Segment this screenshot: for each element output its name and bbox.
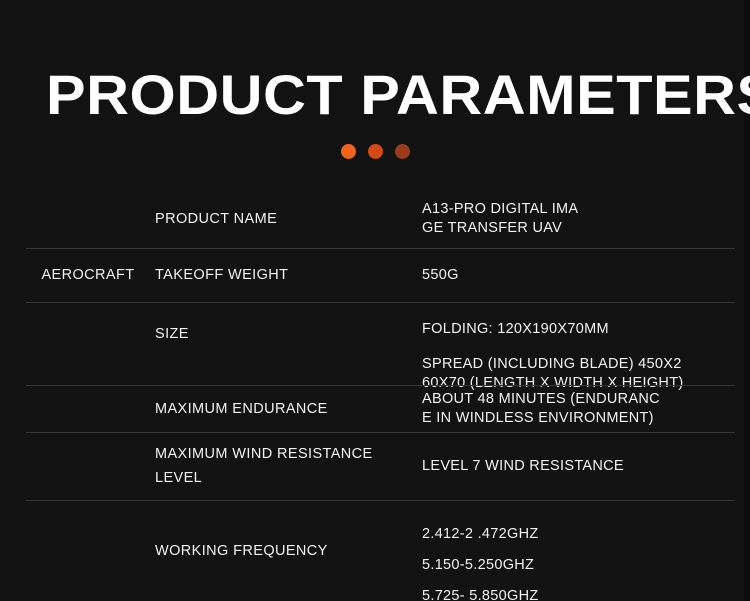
value-line: SPREAD (INCLUDING BLADE) 450X2: [422, 355, 732, 374]
table-row: WORKING FREQUENCY 2.412-2 .472GHZ 5.150-…: [0, 500, 750, 601]
decorative-dots: [0, 144, 750, 159]
dot-3-icon: [395, 144, 410, 159]
value-line: FOLDING: 120X190X70MM: [422, 320, 732, 339]
spec-table: PRODUCT NAME A13-PRO DIGITAL IMA GE TRAN…: [0, 190, 750, 601]
spec-label-working-frequency: WORKING FREQUENCY: [0, 539, 422, 563]
product-parameters-page: PRODUCT PARAMETERS PRODUCT NAME A13-PRO …: [0, 0, 750, 601]
spec-value-wind-resistance: LEVEL 7 WIND RESISTANCE: [422, 457, 750, 476]
value-line: 5.150-5.250GHZ: [422, 556, 732, 575]
spec-value-size: FOLDING: 120X190X70MM SPREAD (INCLUDING …: [422, 302, 750, 393]
spec-label-size: SIZE: [0, 302, 422, 346]
spec-group-label-aerocraft: AEROCRAFT: [26, 248, 150, 302]
table-row: MAXIMUM ENDURANCE ABOUT 48 MINUTES (ENDU…: [0, 385, 750, 432]
spec-label-maximum-endurance: MAXIMUM ENDURANCE: [0, 397, 422, 421]
table-row: AEROCRAFT TAKEOFF WEIGHT 550G: [0, 248, 750, 302]
value-line: GE TRANSFER UAV: [422, 219, 732, 238]
value-line: 2.412-2 .472GHZ: [422, 525, 732, 544]
spec-value-product-name: A13-PRO DIGITAL IMA GE TRANSFER UAV: [422, 200, 750, 238]
value-line: LEVEL 7 WIND RESISTANCE: [422, 457, 732, 476]
value-line: 5.725- 5.850GHZ: [422, 587, 732, 601]
label-line: MAXIMUM WIND: [155, 446, 273, 462]
dot-1-icon: [341, 144, 356, 159]
table-row: PRODUCT NAME A13-PRO DIGITAL IMA GE TRAN…: [0, 190, 750, 248]
spec-value-maximum-endurance: ABOUT 48 MINUTES (ENDURANC E IN WINDLESS…: [422, 390, 750, 428]
table-row: MAXIMUM WIND RESISTANCE LEVEL LEVEL 7 WI…: [0, 432, 750, 500]
table-row: SIZE FOLDING: 120X190X70MM SPREAD (INCLU…: [0, 302, 750, 385]
value-line: E IN WINDLESS ENVIRONMENT): [422, 409, 732, 428]
value-line: 550G: [422, 266, 732, 285]
spec-label-wind-resistance: MAXIMUM WIND RESISTANCE LEVEL: [0, 442, 422, 490]
spec-value-takeoff-weight: 550G: [422, 266, 750, 285]
spec-label-product-name: PRODUCT NAME: [0, 207, 422, 231]
spec-value-working-frequency: 2.412-2 .472GHZ 5.150-5.250GHZ 5.725- 5.…: [422, 500, 750, 601]
value-line: ABOUT 48 MINUTES (ENDURANC: [422, 390, 732, 409]
dot-2-icon: [368, 144, 383, 159]
page-title: PRODUCT PARAMETERS: [46, 66, 750, 124]
value-line: A13-PRO DIGITAL IMA: [422, 200, 732, 219]
